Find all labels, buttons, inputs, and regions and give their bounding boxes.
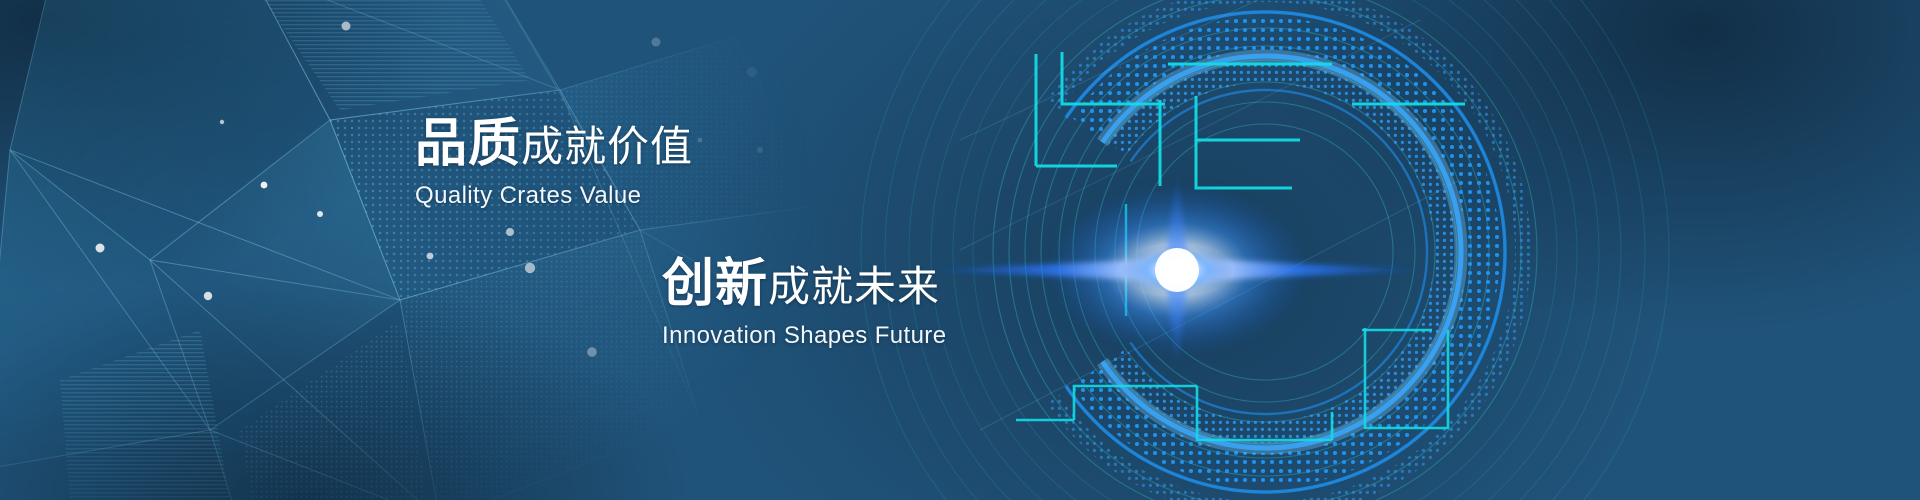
- hero-banner: 品质成就价值 Quality Crates Value 创新成就未来 Innov…: [0, 0, 1920, 500]
- headline-innovation-cn-strong: 创新: [662, 255, 768, 313]
- headline-quality-cn-light: 成就价值: [521, 123, 693, 170]
- headline-quality: 品质成就价值 Quality Crates Value: [415, 118, 693, 210]
- headline-innovation-cn: 创新成就未来: [662, 258, 946, 310]
- lens-flare-star: [0, 0, 1920, 500]
- headline-innovation-cn-light: 成就未来: [768, 263, 940, 310]
- headline-quality-cn: 品质成就价值: [415, 118, 693, 170]
- headline-quality-en: Quality Crates Value: [415, 182, 693, 210]
- headline-innovation: 创新成就未来 Innovation Shapes Future: [662, 258, 946, 350]
- headline-innovation-en: Innovation Shapes Future: [662, 322, 946, 350]
- headline-quality-cn-strong: 品质: [415, 115, 521, 173]
